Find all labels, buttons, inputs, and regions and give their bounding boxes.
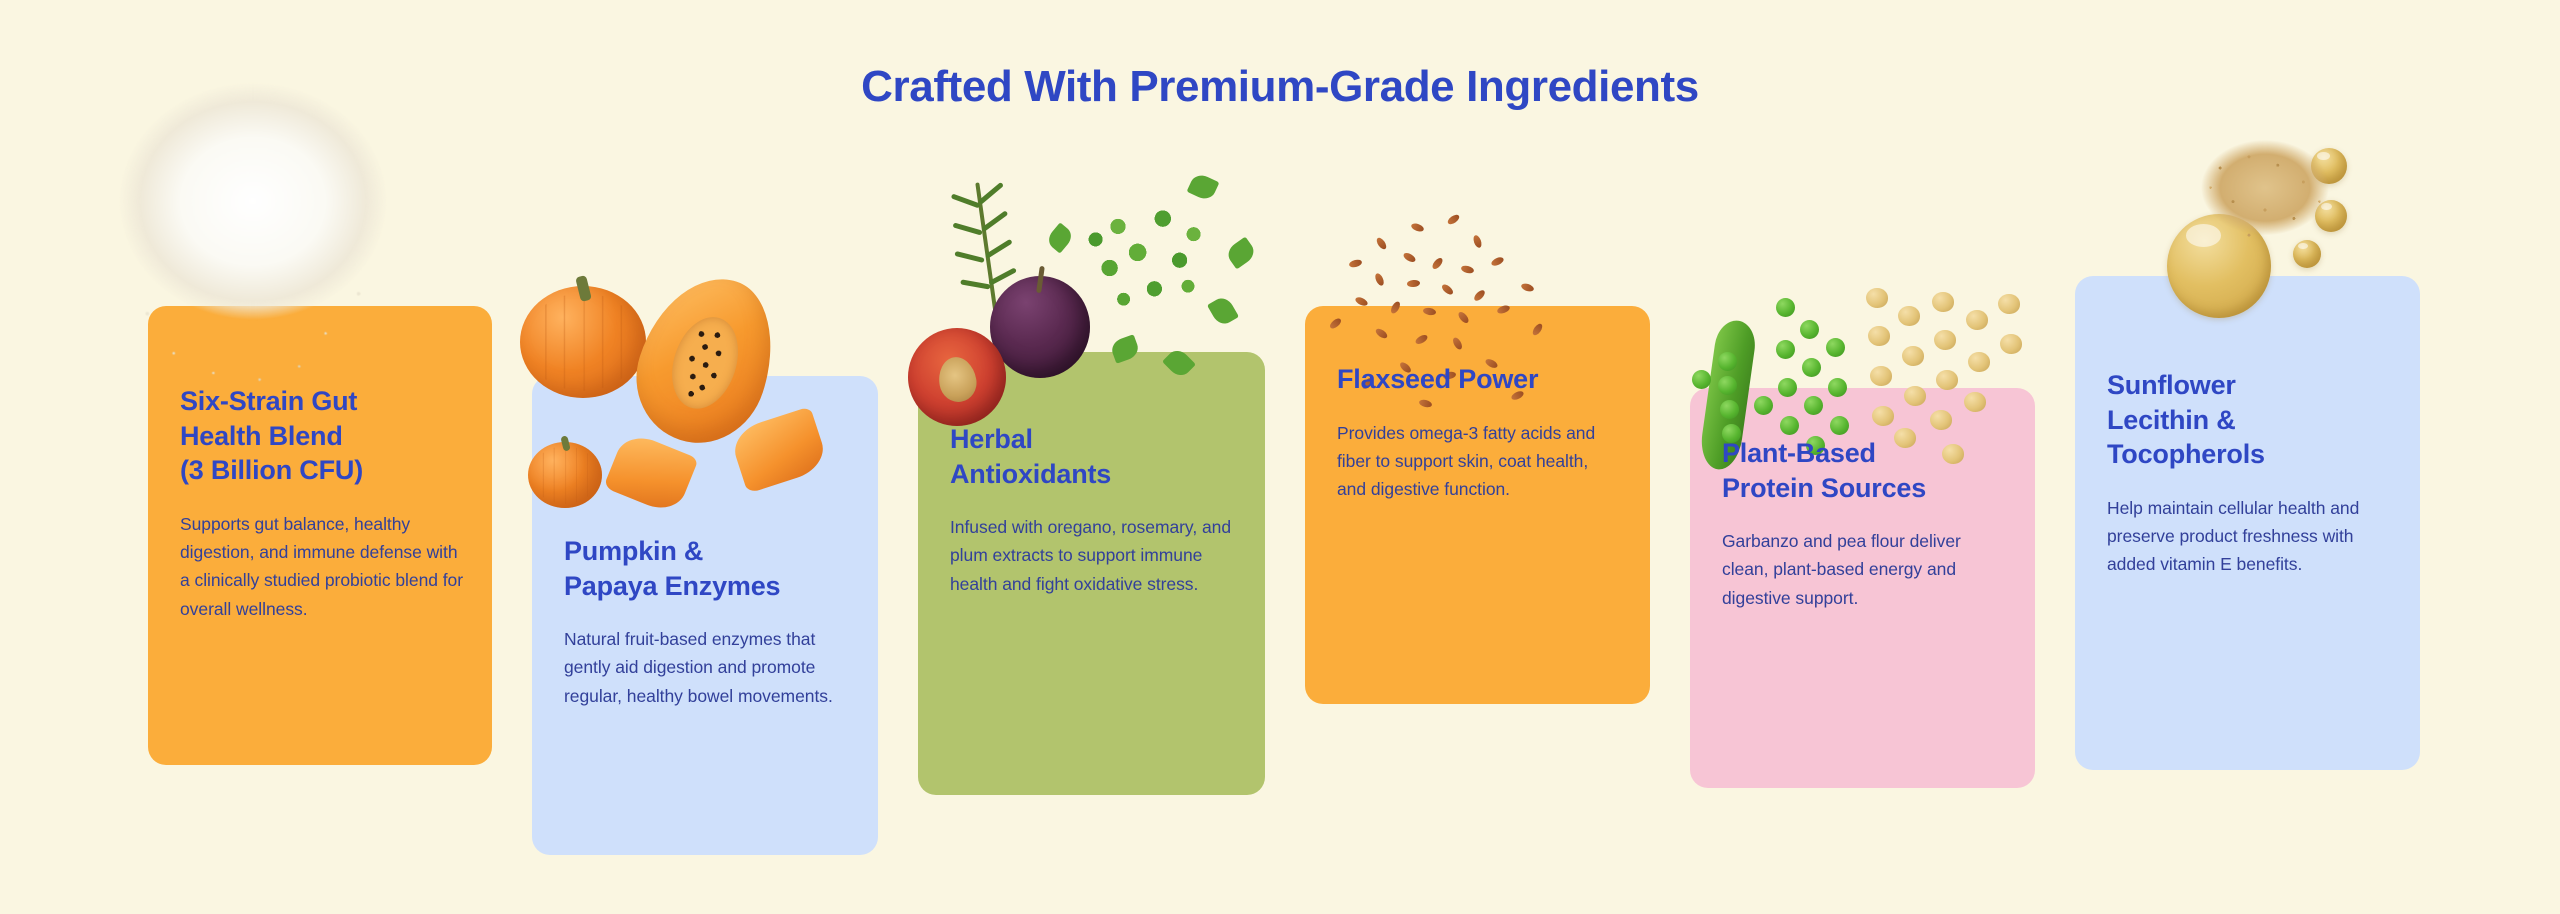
chickpea (1932, 292, 1954, 312)
flaxseed (1375, 236, 1388, 251)
ingredient-card-sunflower-lecithin-tocopherols: Sunflower Lecithin & Tocopherols Help ma… (2075, 276, 2420, 770)
rosemary-needle (981, 210, 1008, 232)
card-text-block: Plant-Based Protein Sources Garbanzo and… (1722, 436, 2007, 612)
card-body: Garbanzo and pea flour deliver clean, pl… (1722, 527, 2007, 612)
card-text-block: Six-Strain Gut Health Blend (3 Billion C… (180, 384, 464, 623)
pea (1776, 340, 1795, 359)
flaxseed (1472, 234, 1483, 249)
rosemary-stem (975, 182, 998, 321)
ingredient-card-flaxseed-power: Flaxseed Power Provides omega-3 fatty ac… (1305, 306, 1650, 704)
oil-droplet-medium (2315, 200, 2347, 232)
pea (1776, 298, 1795, 317)
flaxseed (1490, 256, 1505, 268)
oil-droplet-small (2293, 240, 2321, 268)
card-title-line-1: Plant-Based (1722, 436, 2007, 471)
chickpea (1934, 330, 1956, 350)
rosemary-needle (952, 222, 982, 235)
card-title: Plant-Based Protein Sources (1722, 436, 2007, 505)
chickpea (1902, 346, 1924, 366)
card-title-line-2: Antioxidants (950, 457, 1237, 492)
card-title-line-2: Protein Sources (1722, 471, 2007, 506)
card-title: Sunflower Lecithin & Tocopherols (2107, 368, 2392, 472)
rosemary-needle (978, 182, 1004, 205)
chickpea (1870, 366, 1892, 386)
flaxseed (1407, 279, 1421, 287)
chickpea (1968, 352, 1990, 372)
rosemary-needle (954, 251, 984, 263)
oregano-leaf (1187, 172, 1220, 203)
oregano-leaf (1045, 222, 1076, 253)
ingredient-card-plant-based-protein-sources: Plant-Based Protein Sources Garbanzo and… (1690, 388, 2035, 788)
card-title-line-2: Health Blend (180, 419, 464, 454)
rosemary-needle (985, 239, 1013, 259)
card-title-line-2: Lecithin & (2107, 403, 2392, 438)
card-body: Help maintain cellular health and preser… (2107, 494, 2392, 579)
card-title-line-1: Flaxseed Power (1337, 362, 1622, 397)
ingredient-card-pumpkin-papaya-enzymes: Pumpkin & Papaya Enzymes Natural fruit-b… (532, 376, 878, 855)
flaxseed (1520, 282, 1535, 293)
flaxseed (1374, 272, 1386, 287)
card-text-block: Herbal Antioxidants Infused with oregano… (950, 422, 1237, 598)
card-body: Supports gut balance, healthy digestion,… (180, 510, 464, 623)
lecithin-granule-pile (2185, 126, 2345, 266)
rosemary-needle (960, 279, 990, 289)
ingredients-infographic: Crafted With Premium-Grade Ingredients S… (0, 0, 2560, 914)
pea (1718, 352, 1737, 371)
oregano-bunch-icon (1076, 190, 1216, 320)
card-title-line-3: Tocopherols (2107, 437, 2392, 472)
oregano-leaf (1224, 237, 1258, 270)
pea (1802, 358, 1821, 377)
ingredient-card-herbal-antioxidants: Herbal Antioxidants Infused with oregano… (918, 352, 1265, 795)
card-title-line-1: Six-Strain Gut (180, 384, 464, 419)
rosemary-needle (988, 267, 1017, 285)
chickpea (1866, 288, 1888, 308)
flaxseed (1460, 264, 1474, 274)
card-title: Six-Strain Gut Health Blend (3 Billion C… (180, 384, 464, 488)
chickpea (1898, 306, 1920, 326)
card-title-line-3: (3 Billion CFU) (180, 453, 464, 488)
pea (1800, 320, 1819, 339)
page-title: Crafted With Premium-Grade Ingredients (0, 62, 2560, 112)
oil-droplet-medium (2311, 148, 2347, 184)
chickpea (1966, 310, 1988, 330)
pea (1826, 338, 1845, 357)
card-title: Herbal Antioxidants (950, 422, 1237, 491)
rosemary-sprig-icon (943, 178, 1032, 326)
chickpea (1868, 326, 1890, 346)
rosemary-needle (951, 193, 981, 208)
chickpea (1936, 370, 1958, 390)
card-text-block: Sunflower Lecithin & Tocopherols Help ma… (2107, 368, 2392, 579)
ingredient-card-six-strain-gut-health-blend: Six-Strain Gut Health Blend (3 Billion C… (148, 306, 492, 765)
chickpea (2000, 334, 2022, 354)
chickpea (1998, 294, 2020, 314)
flaxseed (1348, 258, 1362, 268)
card-text-block: Pumpkin & Papaya Enzymes Natural fruit-b… (564, 534, 850, 710)
card-title-line-2: Papaya Enzymes (564, 569, 850, 604)
pea (1692, 370, 1711, 389)
card-body: Provides omega-3 fatty acids and fiber t… (1337, 419, 1622, 504)
card-title: Pumpkin & Papaya Enzymes (564, 534, 850, 603)
granule-specks (2185, 126, 2345, 266)
card-body: Infused with oregano, rosemary, and plum… (950, 513, 1237, 598)
oregano-leaf (1207, 294, 1239, 328)
flaxseed (1472, 288, 1486, 302)
flaxseed (1402, 251, 1417, 264)
card-text-block: Flaxseed Power Provides omega-3 fatty ac… (1337, 362, 1622, 504)
card-body: Natural fruit-based enzymes that gently … (564, 625, 850, 710)
flaxseed (1446, 213, 1461, 226)
card-title-line-1: Pumpkin & (564, 534, 850, 569)
card-title: Flaxseed Power (1337, 362, 1622, 397)
flaxseed (1440, 283, 1454, 297)
flaxseed (1410, 222, 1425, 233)
card-title-line-1: Herbal (950, 422, 1237, 457)
flaxseed (1431, 256, 1445, 270)
card-title-line-1: Sunflower (2107, 368, 2392, 403)
